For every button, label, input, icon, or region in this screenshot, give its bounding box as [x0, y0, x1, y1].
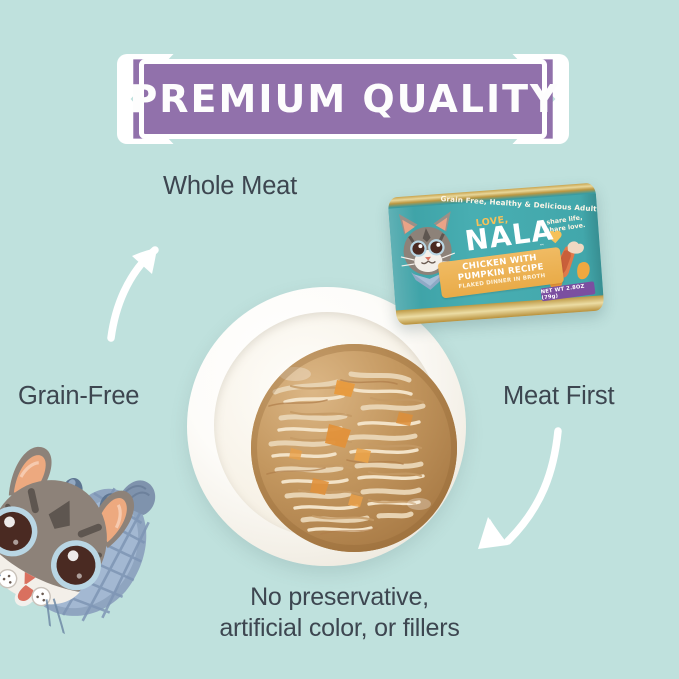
bowl-inner-rim — [214, 312, 440, 538]
bowl-food-contents — [251, 344, 457, 552]
feature-label-grain-free: Grain-Free — [18, 382, 139, 411]
premium-quality-banner: Premium Quality — [117, 54, 569, 144]
banner-label: Premium Quality — [117, 54, 569, 144]
no-preservative-line-2: artificial color, or fillers — [219, 614, 459, 642]
food-bowl — [187, 287, 466, 566]
feature-label-whole-meat: Whole Meat — [163, 172, 297, 201]
can-body: Grain Free, Healthy & Delicious Adult Ca… — [388, 183, 605, 326]
no-preservative-line-1: No preservative, — [250, 583, 429, 611]
shredded-chicken-texture — [251, 344, 457, 552]
feature-label-meat-first: Meat First — [503, 382, 614, 411]
product-infographic: Premium Quality Whole Meat Grain-Free Me… — [0, 0, 679, 679]
product-can: Grain Free, Healthy & Delicious Adult Ca… — [388, 183, 605, 326]
curved-arrow-up-right-icon — [105, 212, 215, 342]
curved-arrow-down-left-icon — [450, 425, 565, 570]
